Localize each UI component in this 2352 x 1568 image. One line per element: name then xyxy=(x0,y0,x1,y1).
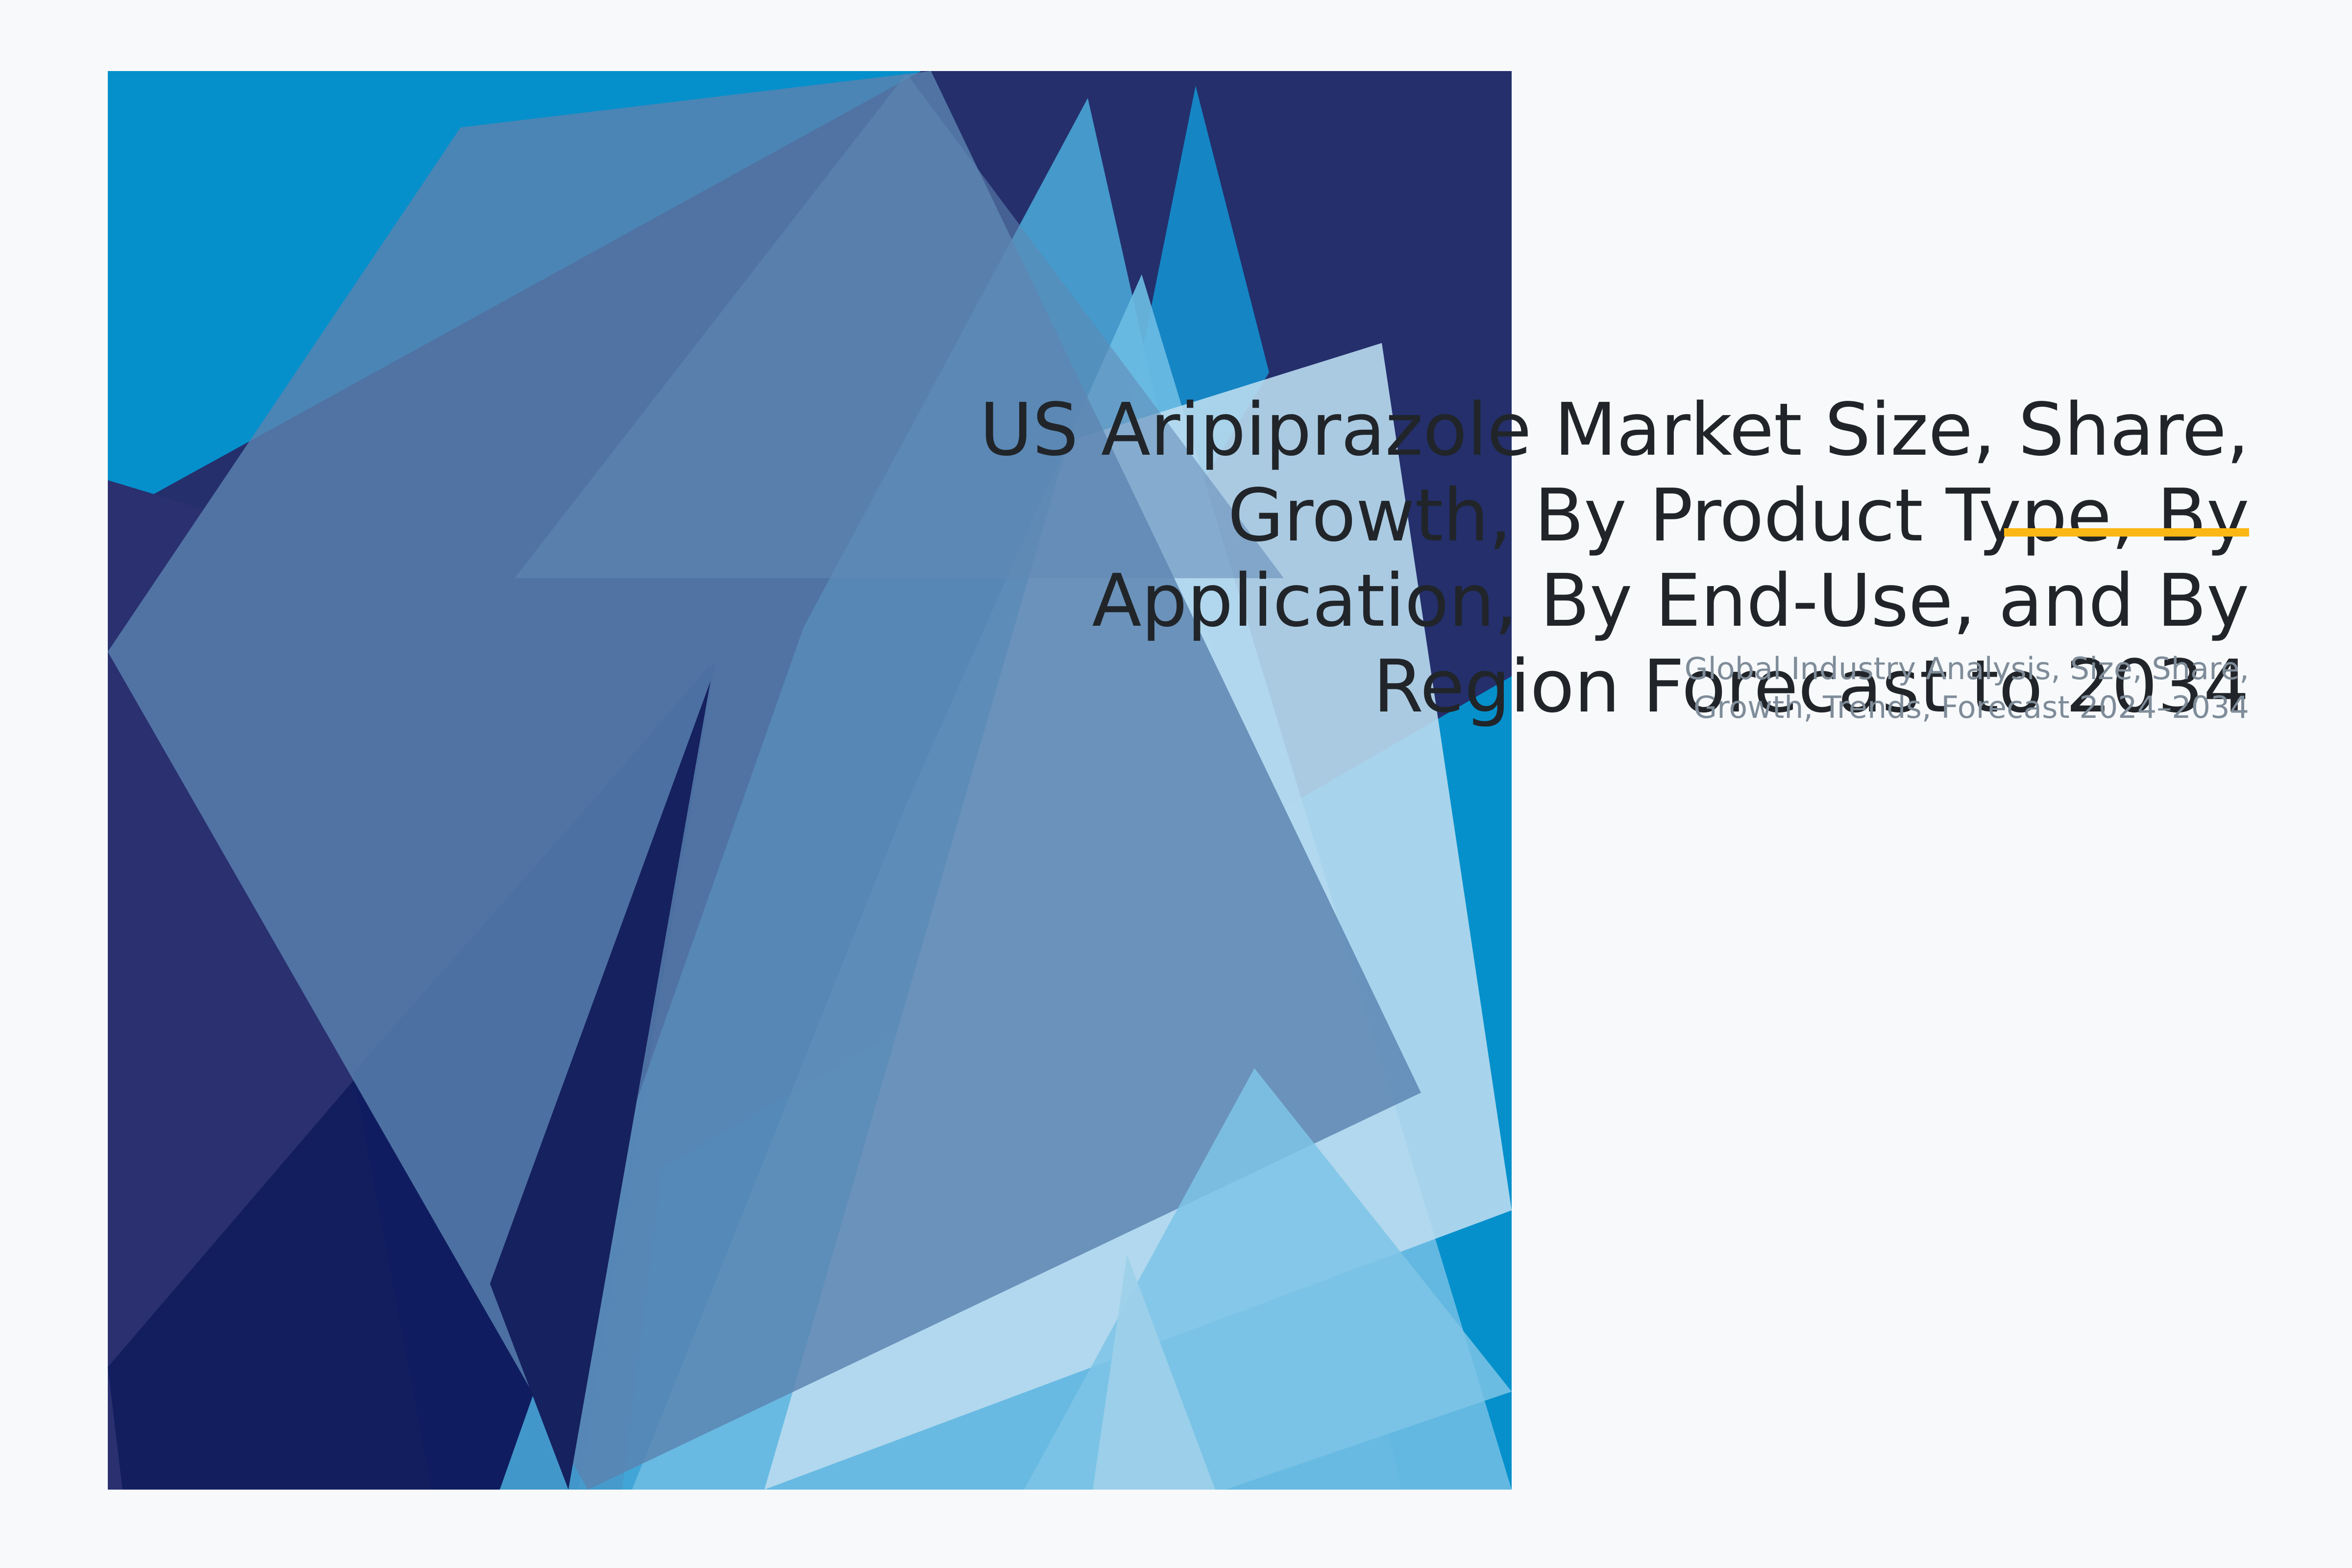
subtitle-block: Global Industry Analysis, Size, Share, G… xyxy=(1274,649,2249,727)
abstract-artwork-svg xyxy=(0,0,2352,1568)
report-cover-canvas: US Aripiprazole Market Size, Share, Grow… xyxy=(0,0,2352,1568)
accent-rule xyxy=(2004,528,2249,537)
page-subtitle: Global Industry Analysis, Size, Share, G… xyxy=(1274,649,2249,727)
abstract-artwork xyxy=(0,0,2352,1568)
